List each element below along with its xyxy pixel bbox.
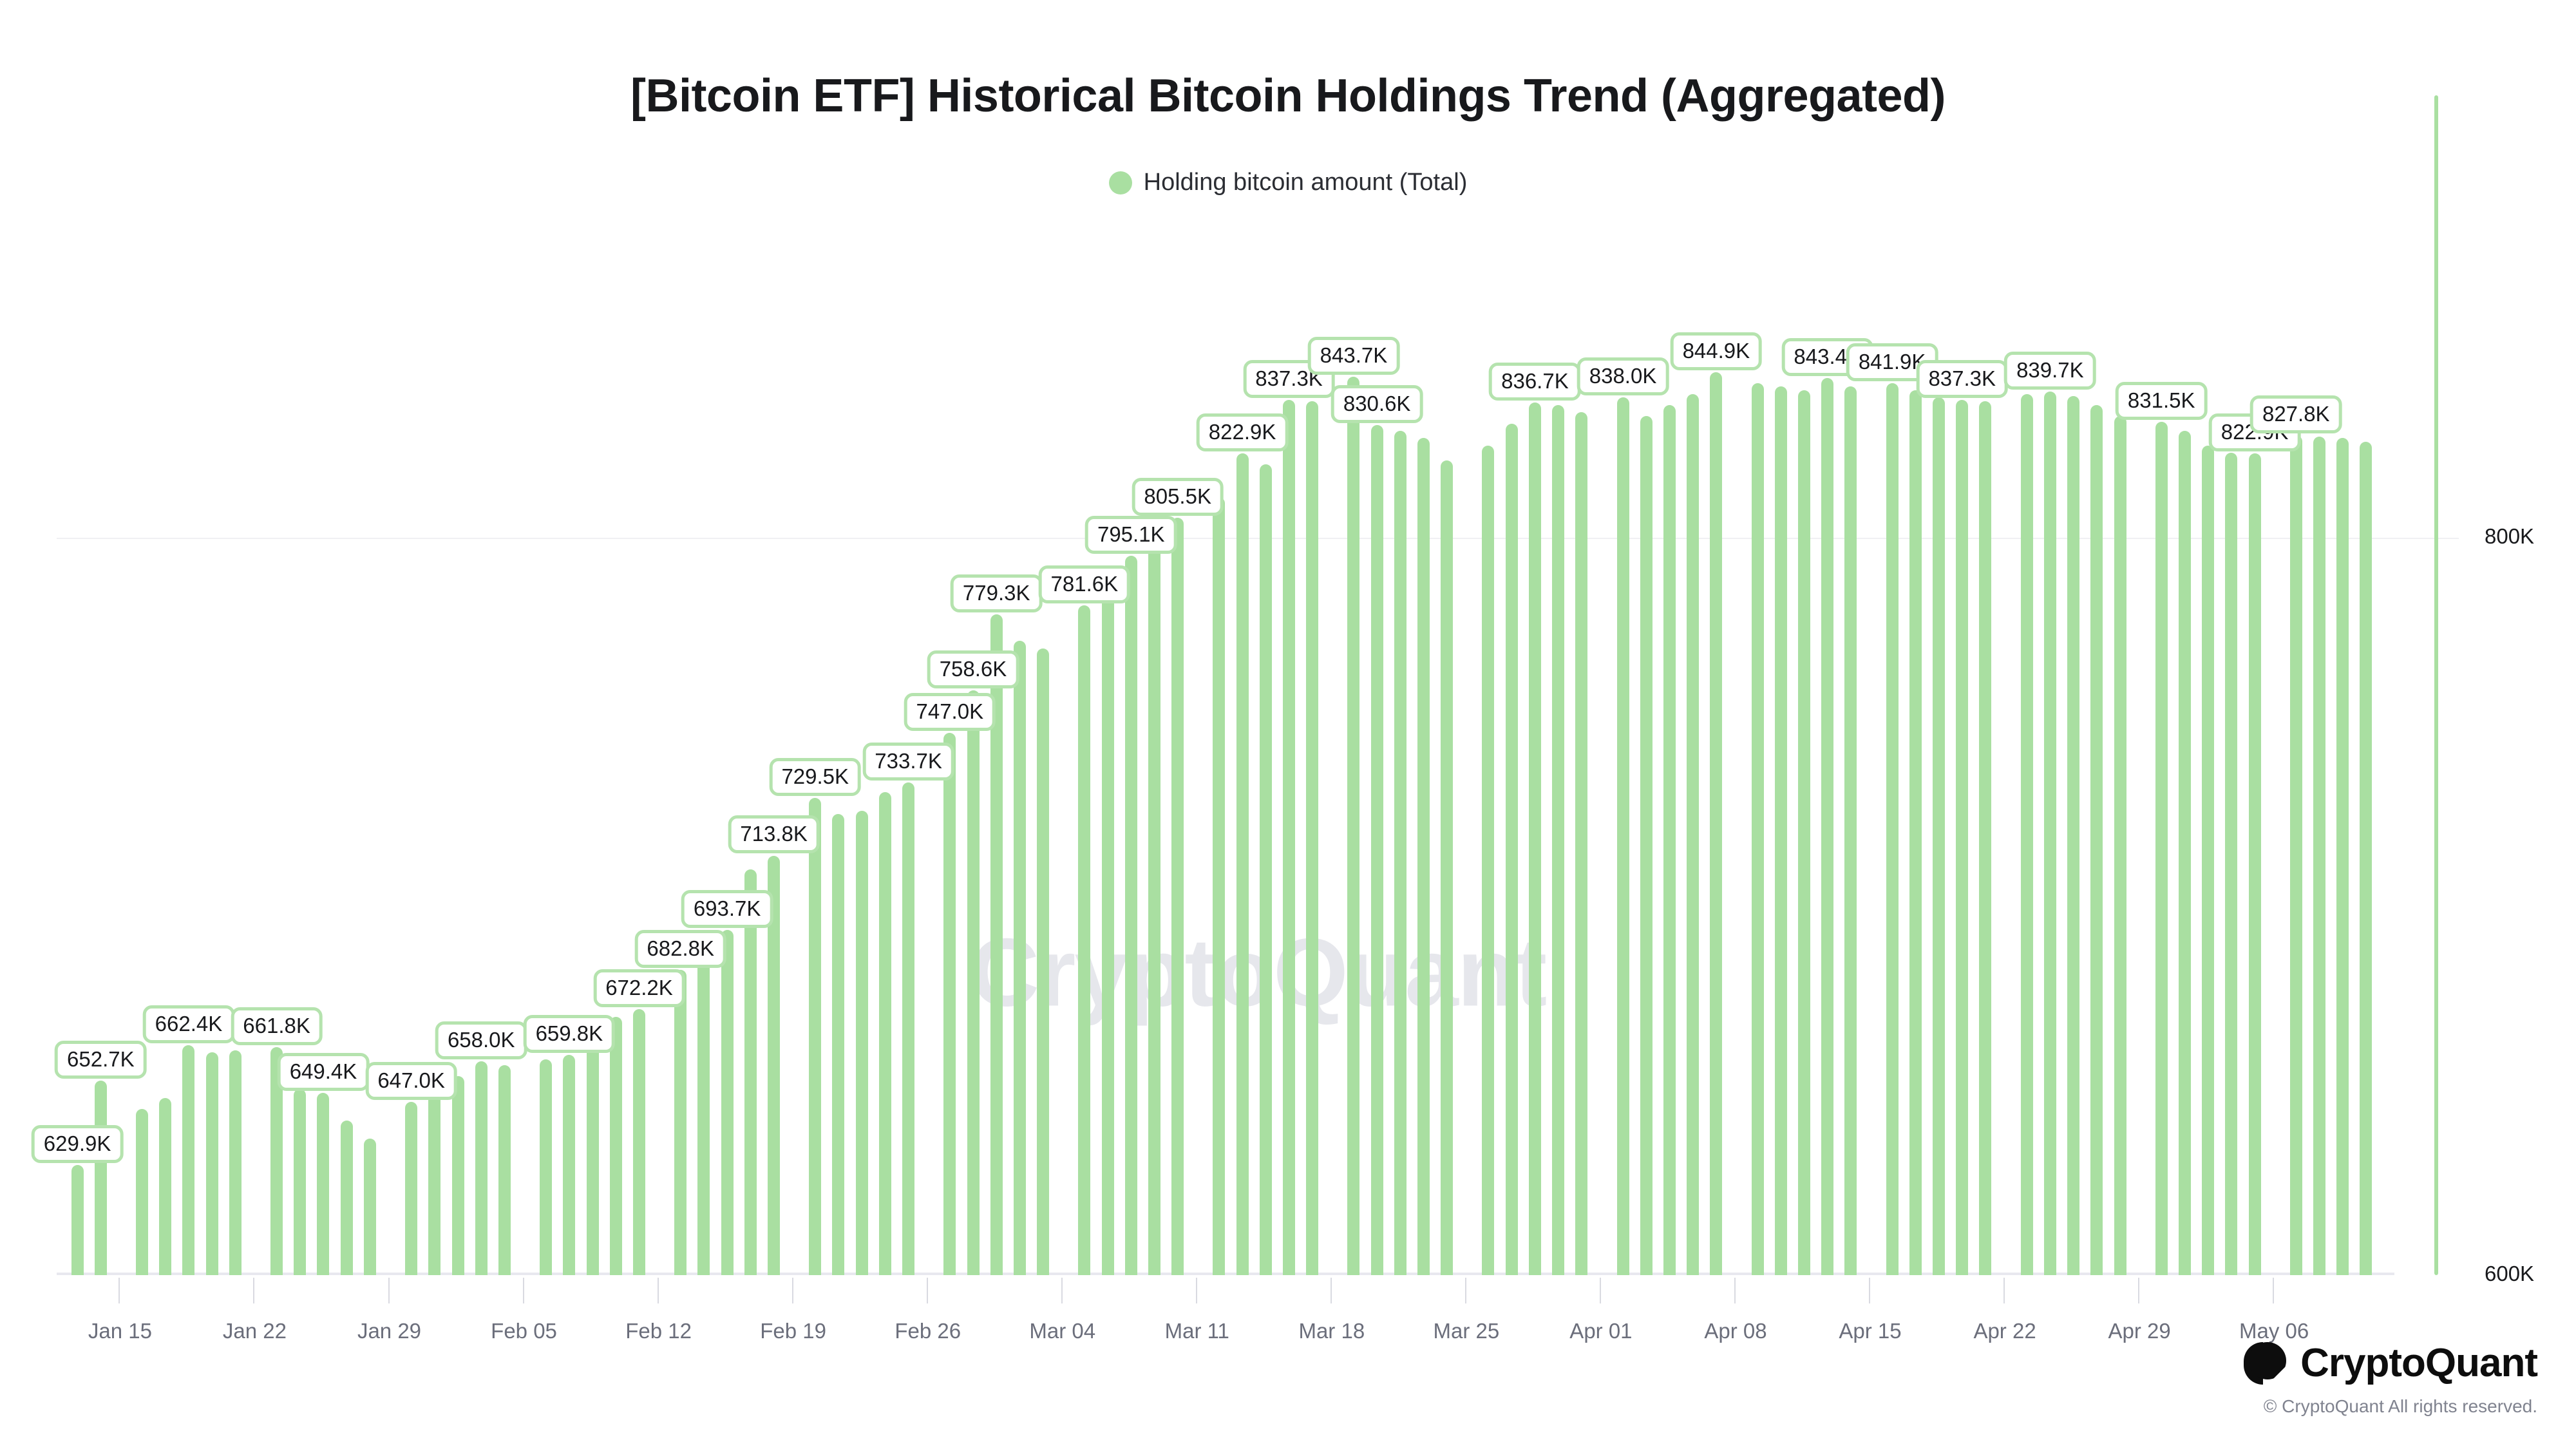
chart-legend[interactable]: Holding bitcoin amount (Total) bbox=[0, 169, 2576, 196]
x-axis-tick-label: Apr 01 bbox=[1569, 1319, 1632, 1343]
bar-value-label: 733.7K bbox=[862, 743, 954, 781]
x-axis-tick-label: Apr 15 bbox=[1839, 1319, 1901, 1343]
bar[interactable] bbox=[1775, 386, 1787, 1275]
bar[interactable] bbox=[428, 1091, 440, 1275]
x-axis-tick-label: Feb 26 bbox=[895, 1319, 961, 1343]
bar[interactable] bbox=[1037, 649, 1049, 1275]
bar-value-label: 827.8K bbox=[2250, 395, 2342, 433]
bar[interactable] bbox=[832, 814, 844, 1275]
bar[interactable] bbox=[1575, 412, 1587, 1275]
bar[interactable] bbox=[206, 1052, 218, 1275]
bar[interactable] bbox=[1886, 383, 1899, 1275]
x-axis-tick bbox=[1465, 1278, 1466, 1303]
bar[interactable] bbox=[71, 1165, 84, 1275]
bar-value-label: 831.5K bbox=[2116, 382, 2208, 420]
bar-value-label: 758.6K bbox=[927, 650, 1019, 688]
bar[interactable] bbox=[2067, 396, 2079, 1275]
legend-color-swatch bbox=[1109, 171, 1132, 194]
x-axis-tick-label: Feb 19 bbox=[760, 1319, 826, 1343]
bar[interactable] bbox=[1979, 401, 1991, 1275]
x-axis-tick bbox=[523, 1278, 524, 1303]
x-axis-tick-label: Apr 22 bbox=[1973, 1319, 2036, 1343]
bar[interactable] bbox=[633, 1009, 645, 1275]
x-axis-tick bbox=[2273, 1278, 2274, 1303]
y-axis-line bbox=[2434, 95, 2438, 1275]
x-axis-tick bbox=[1061, 1278, 1063, 1303]
x-axis-tick-label: Mar 25 bbox=[1434, 1319, 1500, 1343]
bar[interactable] bbox=[2313, 437, 2325, 1275]
bar[interactable] bbox=[1752, 383, 1764, 1275]
brand-wordmark: CryptoQuant bbox=[2300, 1340, 2537, 1386]
x-axis-tick bbox=[118, 1278, 120, 1303]
bar-value-label: 822.9K bbox=[1197, 413, 1289, 451]
plot-area: CryptoQuant 629.9K652.7K662.4K661.8K649.… bbox=[57, 238, 2459, 1275]
bar[interactable] bbox=[1710, 372, 1722, 1275]
bar-value-label: 837.3K bbox=[1916, 360, 2008, 398]
bar[interactable] bbox=[1909, 390, 1922, 1275]
bar[interactable] bbox=[136, 1109, 148, 1275]
bar[interactable] bbox=[1663, 405, 1676, 1275]
y-axis-tick-label: 800K bbox=[2485, 524, 2534, 549]
x-axis-tick-label: Mar 04 bbox=[1029, 1319, 1095, 1343]
bar[interactable] bbox=[1798, 390, 1810, 1275]
bar[interactable] bbox=[1371, 425, 1383, 1275]
bar[interactable] bbox=[902, 782, 914, 1275]
bar-value-label: 659.8K bbox=[524, 1015, 616, 1053]
bar-value-label: 649.4K bbox=[278, 1053, 370, 1091]
bar[interactable] bbox=[721, 930, 734, 1275]
bar[interactable] bbox=[674, 970, 687, 1275]
x-axis-tick bbox=[2138, 1278, 2139, 1303]
bar-value-label: 838.0K bbox=[1577, 357, 1669, 395]
x-axis-tick-label: Jan 15 bbox=[88, 1319, 152, 1343]
bar-value-label: 844.9K bbox=[1671, 332, 1763, 370]
bar[interactable] bbox=[2044, 392, 2056, 1275]
bar[interactable] bbox=[1014, 641, 1026, 1275]
x-axis-tick-label: Jan 29 bbox=[357, 1319, 421, 1343]
bar[interactable] bbox=[1347, 377, 1359, 1275]
bar[interactable] bbox=[809, 798, 821, 1275]
bar[interactable] bbox=[1552, 405, 1564, 1275]
bar-value-label: 662.4K bbox=[143, 1005, 235, 1043]
bar[interactable] bbox=[2225, 453, 2237, 1275]
bar-value-label: 795.1K bbox=[1085, 516, 1177, 554]
x-axis-tick bbox=[1600, 1278, 1601, 1303]
bar[interactable] bbox=[1078, 605, 1090, 1275]
x-axis-tick-label: Jan 22 bbox=[223, 1319, 287, 1343]
bar-value-label: 779.3K bbox=[951, 574, 1043, 612]
bar[interactable] bbox=[856, 811, 868, 1275]
bar[interactable] bbox=[1213, 497, 1225, 1275]
bar[interactable] bbox=[2155, 422, 2168, 1275]
bar-value-label: 747.0K bbox=[904, 693, 996, 731]
bar[interactable] bbox=[1394, 431, 1406, 1275]
bar[interactable] bbox=[2021, 394, 2033, 1275]
bar-value-label: 693.7K bbox=[681, 890, 773, 928]
x-axis-tick-label: Feb 12 bbox=[625, 1319, 692, 1343]
bar[interactable] bbox=[1441, 460, 1453, 1275]
bar[interactable] bbox=[563, 1055, 575, 1275]
bar-value-label: 781.6K bbox=[1039, 565, 1131, 603]
bar-value-label: 629.9K bbox=[32, 1125, 124, 1163]
bar[interactable] bbox=[2336, 438, 2349, 1275]
bar[interactable] bbox=[364, 1139, 376, 1275]
bar[interactable] bbox=[1260, 464, 1272, 1276]
bar[interactable] bbox=[1482, 446, 1494, 1275]
bar[interactable] bbox=[182, 1045, 194, 1275]
cryptoquant-logo: CryptoQuant bbox=[2244, 1340, 2537, 1386]
bar-value-label: 805.5K bbox=[1132, 478, 1224, 516]
bar[interactable] bbox=[744, 869, 757, 1275]
bar-value-label: 682.8K bbox=[634, 930, 726, 968]
chart-canvas: [Bitcoin ETF] Historical Bitcoin Holding… bbox=[0, 0, 2576, 1449]
bar[interactable] bbox=[317, 1093, 329, 1275]
bar[interactable] bbox=[2290, 435, 2302, 1275]
bar[interactable] bbox=[341, 1121, 353, 1275]
x-axis-tick-label: Feb 05 bbox=[491, 1319, 557, 1343]
bar-value-label: 652.7K bbox=[55, 1041, 147, 1079]
bar[interactable] bbox=[879, 792, 891, 1275]
x-axis-tick bbox=[253, 1278, 254, 1303]
bar-value-label: 839.7K bbox=[2004, 352, 2096, 390]
x-axis-tick bbox=[1331, 1278, 1332, 1303]
bar[interactable] bbox=[2179, 431, 2191, 1275]
bar-value-label: 661.8K bbox=[231, 1007, 323, 1045]
bar[interactable] bbox=[1306, 401, 1318, 1275]
x-axis-tick bbox=[2003, 1278, 2005, 1303]
bar[interactable] bbox=[1125, 556, 1137, 1275]
bar[interactable] bbox=[1283, 400, 1295, 1275]
bar[interactable] bbox=[95, 1081, 107, 1275]
bar[interactable] bbox=[1171, 518, 1184, 1275]
bar[interactable] bbox=[475, 1061, 488, 1275]
bar[interactable] bbox=[1687, 394, 1699, 1275]
bar[interactable] bbox=[610, 1017, 622, 1275]
bar[interactable] bbox=[1148, 538, 1160, 1275]
bar[interactable] bbox=[405, 1102, 417, 1275]
bar[interactable] bbox=[452, 1076, 464, 1275]
bar[interactable] bbox=[1640, 416, 1653, 1275]
bar[interactable] bbox=[2090, 405, 2103, 1275]
x-axis-tick-label: Mar 11 bbox=[1165, 1319, 1229, 1343]
bar-value-label: 830.6K bbox=[1331, 385, 1423, 423]
x-axis-tick bbox=[1734, 1278, 1736, 1303]
bar-value-label: 729.5K bbox=[769, 758, 861, 796]
bar[interactable] bbox=[294, 1089, 306, 1275]
watermark: CryptoQuant bbox=[970, 917, 1546, 1028]
bar-value-label: 836.7K bbox=[1489, 363, 1581, 401]
bar[interactable] bbox=[229, 1050, 241, 1275]
bar[interactable] bbox=[2114, 416, 2126, 1275]
bar[interactable] bbox=[2202, 446, 2214, 1275]
x-axis-tick bbox=[388, 1278, 390, 1303]
bar[interactable] bbox=[498, 1065, 511, 1275]
bar[interactable] bbox=[587, 1028, 599, 1275]
page-title: [Bitcoin ETF] Historical Bitcoin Holding… bbox=[0, 70, 2576, 122]
bar[interactable] bbox=[967, 690, 980, 1275]
x-axis-tick-label: Apr 29 bbox=[2108, 1319, 2170, 1343]
bar-value-label: 658.0K bbox=[435, 1021, 527, 1059]
bar-value-label: 647.0K bbox=[365, 1062, 457, 1100]
bar[interactable] bbox=[1956, 400, 1968, 1275]
x-axis-tick-label: Apr 08 bbox=[1704, 1319, 1766, 1343]
bar[interactable] bbox=[159, 1098, 171, 1275]
bar-value-label: 713.8K bbox=[728, 815, 820, 853]
x-axis-tick bbox=[927, 1278, 928, 1303]
bar-value-label: 843.7K bbox=[1308, 337, 1400, 375]
bar[interactable] bbox=[2360, 442, 2372, 1275]
x-axis-tick bbox=[1196, 1278, 1197, 1303]
x-axis-tick bbox=[658, 1278, 659, 1303]
x-axis-tick bbox=[1869, 1278, 1870, 1303]
x-axis-tick bbox=[792, 1278, 793, 1303]
bar[interactable] bbox=[1102, 578, 1114, 1275]
bar[interactable] bbox=[1417, 438, 1430, 1275]
bar[interactable] bbox=[697, 951, 710, 1275]
bar[interactable] bbox=[1821, 378, 1833, 1275]
bar[interactable] bbox=[1506, 424, 1518, 1275]
bar[interactable] bbox=[943, 733, 956, 1275]
x-axis-tick-label: Mar 18 bbox=[1298, 1319, 1365, 1343]
y-axis-tick-label: 600K bbox=[2485, 1262, 2534, 1286]
bar[interactable] bbox=[540, 1059, 552, 1275]
bar[interactable] bbox=[1933, 397, 1945, 1275]
bar[interactable] bbox=[1617, 397, 1629, 1275]
bar[interactable] bbox=[2249, 453, 2261, 1275]
bar[interactable] bbox=[1236, 453, 1249, 1275]
legend-item-label: Holding bitcoin amount (Total) bbox=[1144, 169, 1468, 196]
bar[interactable] bbox=[1529, 402, 1541, 1275]
cryptoquant-mark-icon bbox=[2244, 1342, 2286, 1385]
bar[interactable] bbox=[1844, 386, 1857, 1275]
bar-value-label: 672.2K bbox=[593, 969, 685, 1007]
copyright-text: © CryptoQuant All rights reserved. bbox=[2264, 1396, 2537, 1417]
